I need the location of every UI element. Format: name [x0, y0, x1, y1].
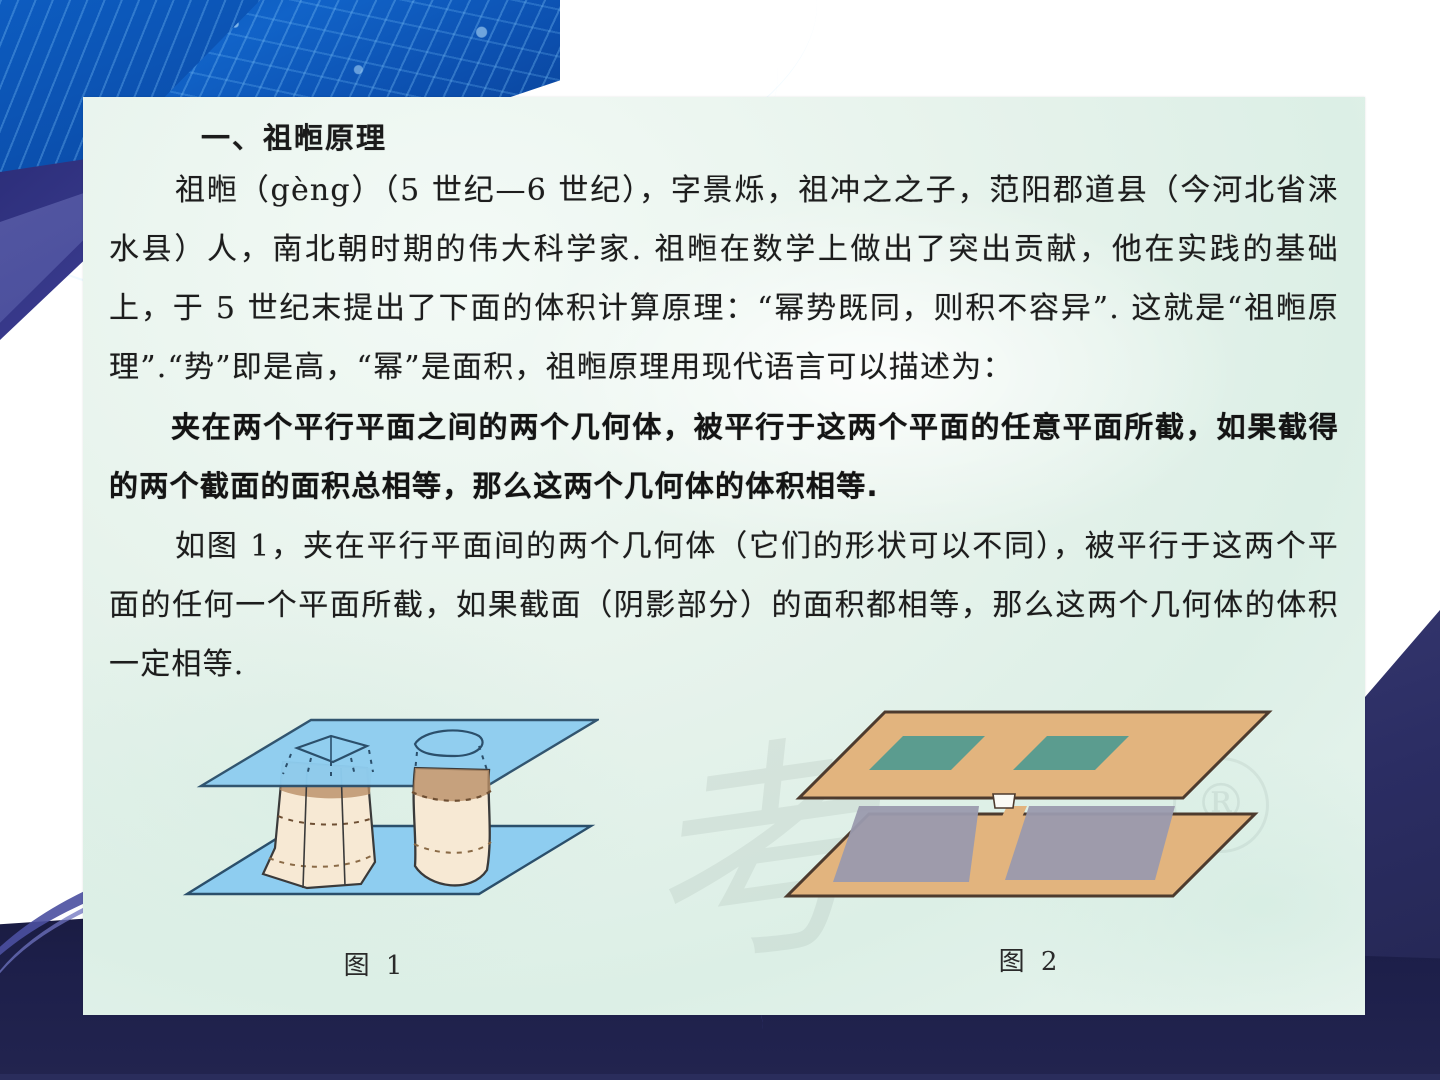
figures-row: 图 1 图 2: [83, 698, 1365, 998]
fig1-upper-plane: [201, 720, 597, 786]
bottom-edge-line: [0, 1074, 1440, 1080]
figure-2-caption: 图 2: [787, 941, 1273, 978]
figure-1: 图 1: [179, 698, 599, 982]
slide-canvas: 考 ® 一、祖暅原理 祖暅（gèng）（5 世纪—6 世纪），字景烁，祖冲之之子…: [0, 0, 1440, 1080]
section-title: 一、祖暅原理: [201, 115, 1339, 157]
paragraph-figure-note: 如图 1，夹在平行平面间的两个几何体（它们的形状可以不同），被平行于这两个平面的…: [109, 517, 1339, 694]
fig2-center-notch: [993, 794, 1015, 808]
figure-2: 图 2: [773, 694, 1273, 978]
paragraph-principle-statement: 夹在两个平行平面之间的两个几何体，被平行于这两个平面的任意平面所截，如果截得的两…: [109, 398, 1339, 516]
fig2-solid-right: [1005, 806, 1175, 880]
fig2-solid-left: [833, 806, 979, 882]
figure-1-illustration: [179, 698, 599, 938]
fig1-lower-plane: [187, 826, 591, 894]
scanned-page-panel: 考 ® 一、祖暅原理 祖暅（gèng）（5 世纪—6 世纪），字景烁，祖冲之之子…: [83, 97, 1365, 1015]
paragraph-biography: 祖暅（gèng）（5 世纪—6 世纪），字景烁，祖冲之之子，范阳郡道县（今河北省…: [109, 161, 1339, 397]
figure-2-illustration: [773, 694, 1273, 934]
figure-1-caption: 图 1: [151, 945, 599, 982]
page-text-block: 一、祖暅原理 祖暅（gèng）（5 世纪—6 世纪），字景烁，祖冲之之子，范阳郡…: [83, 97, 1365, 694]
